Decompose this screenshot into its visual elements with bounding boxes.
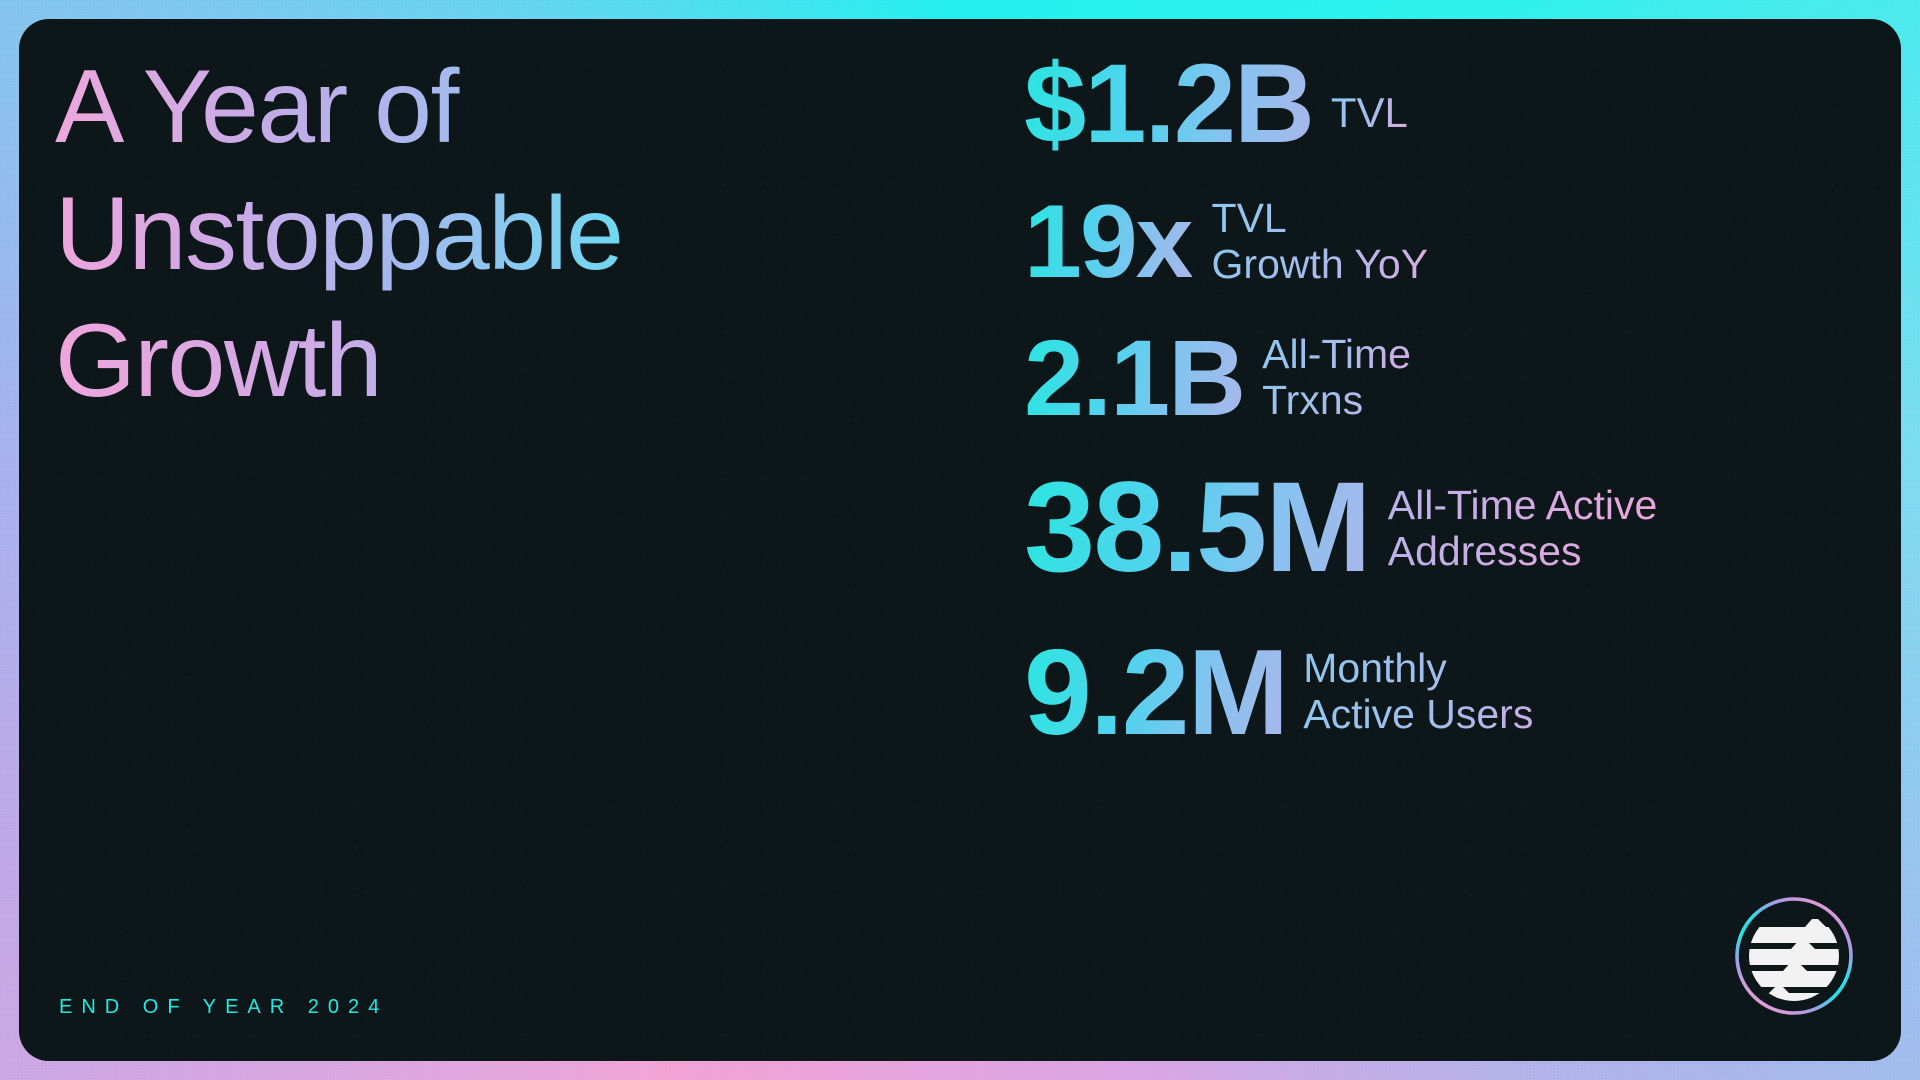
stat-item: 38.5M All-Time Active Addresses xyxy=(1024,463,1824,594)
stat-item: 9.2M Monthly Active Users xyxy=(1024,630,1824,754)
stat-value: 2.1B xyxy=(1024,323,1244,433)
stat-label: Monthly Active Users xyxy=(1303,646,1533,738)
stat-label: All-Time Trxns xyxy=(1262,332,1411,424)
headline-line-2: Unstoppable xyxy=(55,171,835,298)
stat-item: 2.1B All-Time Trxns xyxy=(1024,323,1824,433)
eyebrow-label: END OF YEAR 2024 xyxy=(59,996,388,1019)
stat-label: All-Time Active Addresses xyxy=(1388,483,1658,575)
aptos-logo-icon xyxy=(1731,893,1857,1019)
headline-line-1: A Year of xyxy=(55,44,835,171)
stat-value: 9.2M xyxy=(1024,630,1287,754)
stat-item: $1.2B TVL xyxy=(1024,47,1824,161)
stat-value: 19x xyxy=(1024,189,1192,295)
stats-list: $1.2B TVL 19x TVL Growth YoY 2.1B All-Ti… xyxy=(1024,47,1824,774)
gradient-frame: A Year of Unstoppable Growth END OF YEAR… xyxy=(0,0,1920,1080)
stat-item: 19x TVL Growth YoY xyxy=(1024,189,1824,295)
page-title: A Year of Unstoppable Growth xyxy=(55,44,835,425)
stat-value: 38.5M xyxy=(1024,463,1370,594)
stat-label: TVL Growth YoY xyxy=(1212,196,1429,288)
infographic-card: A Year of Unstoppable Growth END OF YEAR… xyxy=(19,19,1901,1061)
headline-line-3: Growth xyxy=(55,298,835,425)
stat-label: TVL xyxy=(1331,89,1408,136)
stat-value: $1.2B xyxy=(1024,47,1313,161)
